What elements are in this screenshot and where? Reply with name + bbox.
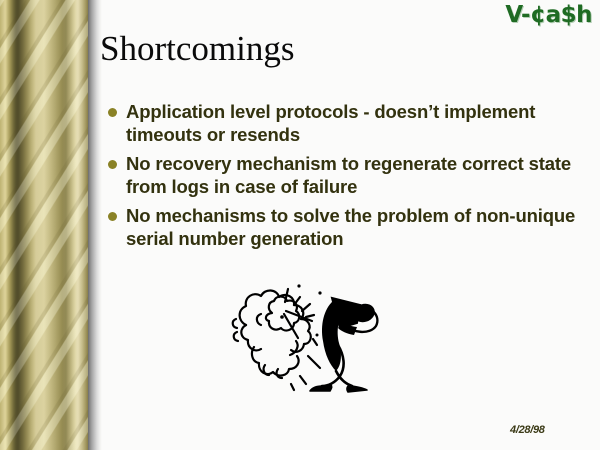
bullet-list: Application level protocols - doesn’t im… <box>108 100 588 256</box>
vcash-logo: V-¢a$h <box>505 2 592 28</box>
bullet-text: Application level protocols - doesn’t im… <box>126 100 588 146</box>
smoke-puff-icon <box>233 289 320 390</box>
slide-title: Shortcomings <box>100 29 294 69</box>
bullet-dot-icon <box>108 212 117 221</box>
list-item: No mechanisms to solve the problem of no… <box>108 204 588 250</box>
bullet-dot-icon <box>108 160 117 169</box>
bullet-text: No recovery mechanism to regenerate corr… <box>126 152 588 198</box>
bullet-dot-icon <box>108 108 117 117</box>
slide-date: 4/28/98 <box>510 424 545 436</box>
gold-band-shading <box>0 0 88 450</box>
bullet-text: No mechanisms to solve the problem of no… <box>126 204 588 250</box>
recoiling-person-icon <box>310 298 377 392</box>
list-item: Application level protocols - doesn’t im… <box>108 100 588 146</box>
decorative-gold-band <box>0 0 96 450</box>
explosion-and-recoiling-person-clipart <box>228 283 403 398</box>
slide-canvas: V-¢a$h Shortcomings Application level pr… <box>0 0 600 450</box>
list-item: No recovery mechanism to regenerate corr… <box>108 152 588 198</box>
